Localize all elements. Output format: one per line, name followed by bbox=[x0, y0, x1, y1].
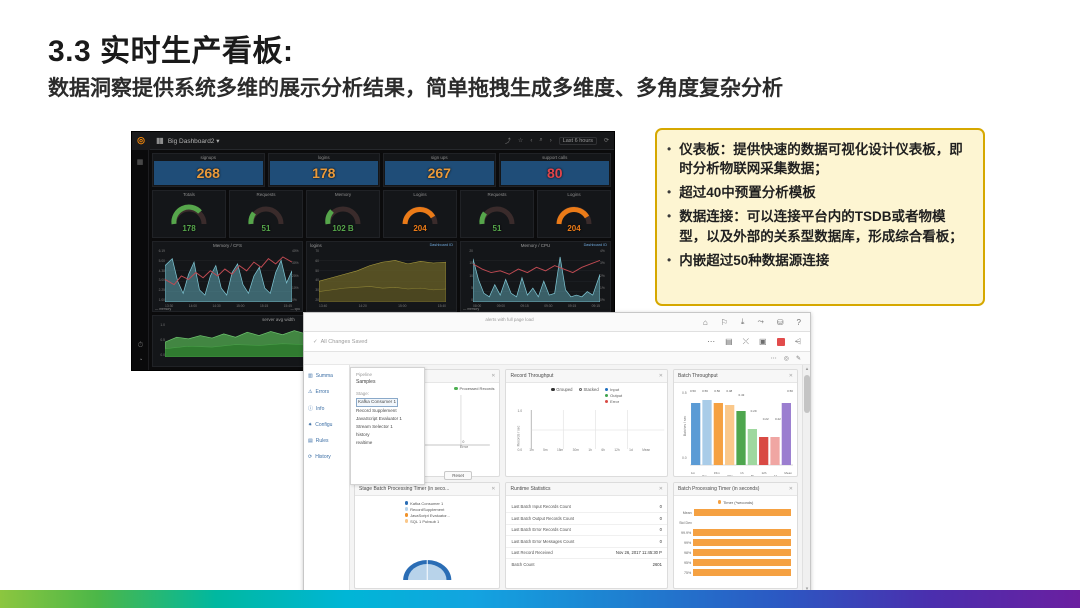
legend-item: Error bbox=[605, 399, 623, 404]
stat-row: Last Batch Error Messages Count 0 bbox=[506, 536, 667, 548]
sidebar-item-label: Errors bbox=[315, 389, 329, 395]
stat-value: 0 bbox=[660, 539, 662, 544]
radio-label: Grouped bbox=[556, 387, 572, 392]
x-tick: Mean bbox=[642, 448, 650, 452]
stop-icon[interactable] bbox=[777, 338, 785, 346]
panel-header: Record Throughput ✕ bbox=[506, 370, 667, 383]
streamsets-main: ▥ Summa ⚠ Errors ⓘ Info ✷ Configu ▤ Rule… bbox=[304, 365, 802, 593]
gauge-panel-title: Logins bbox=[384, 192, 456, 197]
y-axis-title: Batches / sec bbox=[683, 415, 687, 435]
stat-panel[interactable]: logins 178 bbox=[268, 153, 381, 187]
gauge-panel[interactable]: Totals 178 bbox=[152, 190, 226, 238]
stat-row: Last Record Received Nov 26, 2017 11:45:… bbox=[506, 548, 667, 560]
check-icon: ✓ bbox=[313, 339, 318, 345]
panel-header: Runtime Statistics ✕ bbox=[506, 483, 667, 496]
x-tick: 15:00 bbox=[236, 304, 244, 308]
graph-panel-legend-top: Dashboard ID bbox=[584, 243, 607, 247]
hbar-row: 75% bbox=[676, 568, 791, 578]
bar-value-label: 0.50 bbox=[690, 389, 696, 421]
y-axis-labels: 20 15 10 5 0 bbox=[462, 249, 473, 302]
x-tick: 15m bbox=[557, 448, 563, 452]
dropdown-item[interactable]: history bbox=[356, 431, 419, 439]
page-subtitle: 数据洞察提供系统多维的展示分析结果，简单拖拽生成多维度、多角度复杂分析 bbox=[48, 72, 783, 102]
panel-body: Last Batch Input Records Count 0 Last Ba… bbox=[506, 496, 667, 589]
y-tick: 0.0 bbox=[517, 448, 522, 452]
stat-panel-title: support calls bbox=[500, 155, 611, 160]
stat-value: 0 bbox=[660, 527, 662, 532]
hbar-row: 99.9% bbox=[676, 528, 791, 538]
stat-panel-title: sign ups bbox=[384, 155, 495, 160]
grafana-sidebar-bottom: ⏱ ◔ bbox=[132, 342, 149, 364]
graph-legend-right: — cpu bbox=[290, 307, 300, 311]
panel-stage-batch-timer[interactable]: Stage Batch Processing Timer (in seco...… bbox=[354, 482, 500, 590]
page-title: 3.3 实时生产看板: bbox=[48, 26, 294, 70]
gauge-panel-value: 204 bbox=[567, 224, 580, 233]
graph-plot-area bbox=[473, 250, 600, 302]
stat-label: Last Batch Error Messages Count bbox=[511, 539, 574, 544]
stat-row: Last Batch Output Records Count 0 bbox=[506, 513, 667, 525]
info-icon: ⓘ bbox=[308, 405, 313, 412]
list-item: • 超过40中预置分析模板 bbox=[667, 183, 971, 202]
donut-chart bbox=[355, 538, 499, 580]
stat-panel[interactable]: signups 268 bbox=[152, 153, 265, 187]
hbar-label: 95% bbox=[676, 561, 691, 565]
sidebar-item-history[interactable]: ⟳ History bbox=[304, 454, 349, 460]
batch-timer-bars: Mean Std Dev 99.9% bbox=[674, 508, 797, 578]
gauge-panel-title: Logins bbox=[538, 192, 610, 197]
panel-runtime-statistics[interactable]: Runtime Statistics ✕ Last Batch Input Re… bbox=[505, 482, 668, 590]
sidebar-item-label: History bbox=[315, 454, 331, 460]
legend-item: Kafka Consumer 1 bbox=[405, 501, 450, 506]
gauge-panel-title: Totals bbox=[153, 192, 225, 197]
x-tick: Error bbox=[460, 445, 468, 449]
legend-swatch bbox=[605, 400, 609, 404]
close-icon[interactable]: ✕ bbox=[789, 486, 793, 492]
x-tick: 15:00 bbox=[398, 304, 406, 308]
panel-legend: Input Output Error bbox=[605, 387, 623, 404]
stat-panel-value: 267 bbox=[428, 165, 451, 181]
panel-body: Grouped Stacked Input Output bbox=[506, 383, 667, 476]
stat-value: 2601 bbox=[653, 562, 662, 567]
hbar-fill bbox=[693, 539, 791, 546]
sidebar-item-label: Configu bbox=[315, 422, 332, 428]
dropdown-pipeline-label: Pipeline bbox=[356, 372, 419, 377]
graph-panel-title: Memory / CFS bbox=[153, 243, 302, 248]
grafana-topbar: ◎ ▮▮ Big Dashboard2 ▾ ⤴ ☆ ‹ ⌕ › Last 6 h… bbox=[132, 132, 614, 150]
stat-panel-value: 80 bbox=[547, 165, 563, 181]
bullet-icon: • bbox=[667, 183, 671, 202]
shuffle-icon[interactable]: ⤬ bbox=[743, 337, 749, 347]
stat-row: Batch Count 2601 bbox=[506, 559, 667, 571]
share-icon[interactable]: ⤴ bbox=[505, 136, 511, 145]
share-alt-icon[interactable]: ⤳ bbox=[757, 317, 763, 327]
hbar-row: Std Dev bbox=[676, 518, 791, 528]
reset-button[interactable]: Reset bbox=[444, 471, 472, 480]
x-tick: 12h bbox=[614, 448, 619, 452]
panel-title: Stage Batch Processing Timer (in seco... bbox=[359, 486, 449, 492]
notification-icon[interactable]: ⚐ bbox=[721, 318, 728, 327]
y-tick-right: 4% bbox=[600, 249, 605, 253]
sidebar-item-rules[interactable]: ▤ Rules bbox=[304, 438, 349, 444]
graph-panel-legend-top: Dashboard ID bbox=[430, 243, 453, 247]
hbar-label: 99% bbox=[676, 541, 691, 545]
dropdown-item[interactable]: Record Supplement bbox=[356, 407, 419, 415]
legend-item: Processed Records bbox=[454, 386, 494, 391]
gear-icon: ✷ bbox=[308, 422, 312, 428]
gauge-panel-value: 102 B bbox=[332, 224, 353, 233]
legend-swatch bbox=[405, 519, 409, 523]
grafana-logo-icon[interactable]: ◎ bbox=[132, 132, 150, 150]
save-status: ✓ All Changes Saved bbox=[313, 339, 367, 345]
y-tick: 1.0 bbox=[517, 409, 522, 413]
star-icon[interactable]: ☆ bbox=[518, 137, 523, 144]
grafana-graph-row: Memory / CFS 6.19 5.00 4.38 3.00 2.25 1.… bbox=[152, 241, 611, 312]
history-icon: ⟳ bbox=[308, 454, 312, 460]
legend-swatch bbox=[718, 500, 722, 504]
feature-text: 超过40中预置分析模板 bbox=[679, 183, 816, 202]
save-status-label: All Changes Saved bbox=[321, 339, 368, 345]
feature-text: 数据连接：可以连接平台内的TSDB或者物模型，以及外部的关系型数据库，形成综合看… bbox=[679, 207, 971, 245]
y-tick-right: 1% bbox=[600, 286, 605, 290]
legend-item: Input bbox=[605, 387, 623, 392]
share-icon[interactable]: ⩤ bbox=[795, 337, 801, 347]
settings-icon[interactable]: ◎ bbox=[784, 355, 789, 362]
panel-title: Batch Processing Timer (in seconds) bbox=[678, 486, 759, 492]
scrollbar-thumb[interactable] bbox=[804, 375, 810, 413]
feature-text: 内嵌超过50种数据源连接 bbox=[679, 251, 829, 270]
x-tick: 30m bbox=[727, 474, 733, 477]
hbar-fill bbox=[693, 529, 791, 536]
radio-grouped[interactable]: Grouped bbox=[551, 387, 572, 392]
warning-icon: ⚠ bbox=[308, 389, 312, 395]
zoom-icon[interactable]: ⌕ bbox=[539, 137, 542, 144]
help-icon[interactable]: ? bbox=[797, 318, 801, 327]
radio-dot bbox=[551, 388, 555, 392]
streamsets-panel-row-bottom: Stage Batch Processing Timer (in seco...… bbox=[354, 482, 798, 590]
legend-swatch bbox=[605, 388, 609, 392]
hbar-label: 98% bbox=[676, 551, 691, 555]
scroll-up-icon[interactable]: ▴ bbox=[803, 366, 811, 372]
x-tick: 15:15 bbox=[260, 304, 268, 308]
graph-panel-memory-cfs[interactable]: Memory / CFS 6.19 5.00 4.38 3.00 2.25 1.… bbox=[152, 241, 303, 312]
sidebar-item-label: Info bbox=[316, 406, 324, 412]
sidebar-item-info[interactable]: ⓘ Info bbox=[304, 405, 349, 412]
throughput-mode-radios: Grouped Stacked bbox=[551, 387, 598, 392]
y-tick-right: 0% bbox=[600, 298, 605, 302]
legend-item: Output bbox=[605, 393, 623, 398]
legend-label: Output bbox=[610, 393, 622, 398]
bullet-icon: • bbox=[667, 251, 671, 270]
close-icon[interactable]: ✕ bbox=[491, 486, 495, 492]
legend-item: RecordSupplement bbox=[405, 507, 450, 512]
hbar-row: 99% bbox=[676, 538, 791, 548]
x-tick: 15:40 bbox=[438, 304, 446, 308]
legend-label: Input bbox=[610, 387, 619, 392]
hbar-row: 98% bbox=[676, 548, 791, 558]
graph-legend-left: — memory bbox=[463, 307, 479, 311]
pipeline-stage-dropdown[interactable]: Pipeline Samples Stage: Kafka Consumer 1… bbox=[350, 367, 425, 485]
snapshot-icon[interactable]: ▣ bbox=[759, 337, 767, 346]
panel-body: Batches / sec 0.5 0.0 0.50 0.56 0.50 0.4… bbox=[674, 383, 797, 476]
x-tick: 09:30 bbox=[544, 304, 552, 308]
dropdown-item[interactable]: Stream Selector 1 bbox=[356, 423, 419, 431]
gauge-panel[interactable]: Logins 204 bbox=[537, 190, 611, 238]
x-tick: 14:20 bbox=[359, 304, 367, 308]
stat-panel-title: logins bbox=[269, 155, 380, 160]
gauge-panel-value: 51 bbox=[262, 224, 271, 233]
streamsets-toolbar-actions: ⋯ ▤ ⤬ ▣ ⩤ bbox=[707, 337, 801, 347]
sidebar-item-errors[interactable]: ⚠ Errors bbox=[304, 389, 349, 395]
panel-record-throughput[interactable]: Record Throughput ✕ Grouped Stacked bbox=[505, 369, 668, 477]
grafana-topbar-actions: ⤴ ☆ ‹ ⌕ › Last 6 hours ⟳ bbox=[505, 136, 609, 145]
hbar-label: Mean bbox=[676, 511, 692, 515]
y-axis-labels: 1.0 0.5 0.0 bbox=[154, 323, 165, 357]
bar-value-label: 0.29 bbox=[751, 409, 757, 421]
y-tick: 0.0 bbox=[682, 456, 687, 460]
legend-item: JavaScript Evaluator... bbox=[405, 513, 450, 518]
dropdown-item[interactable]: Kafka Consumer 1 bbox=[356, 398, 398, 407]
x-axis-labels: 08:00 09:00 09:15 09:30 09:15 09:15 bbox=[473, 304, 600, 308]
sidebar-item-summary[interactable]: ▥ Summa bbox=[304, 373, 349, 379]
bar-value-label: 0.43 bbox=[739, 393, 745, 421]
graph-panel-title: alerts with full page load bbox=[409, 317, 610, 322]
panel-legend: Processed Records bbox=[454, 386, 494, 391]
dropdown-pipeline-value[interactable]: Samples bbox=[356, 379, 419, 385]
x-tick: 13:40 bbox=[319, 304, 327, 308]
list-item: • 仪表板：提供快速的数据可视化设计仪表板，即时分析物联网采集数据； bbox=[667, 140, 971, 178]
stat-label: Last Batch Error Records Count bbox=[511, 527, 570, 532]
vertical-scrollbar[interactable]: ▴ ▾ bbox=[802, 365, 810, 593]
hbar-fill bbox=[693, 559, 791, 566]
graph-panel-title: server avg width bbox=[153, 317, 404, 322]
streamsets-monitoring-screenshot: ⌂ ⚐ ⤓ ⤳ ⛁ ? ✓ All Changes Saved ⋯ ▤ ⤬ ▣ … bbox=[303, 312, 811, 594]
y-tick-right: 0% bbox=[292, 298, 297, 302]
graph-plot-area bbox=[319, 250, 446, 302]
panel-title: Runtime Statistics bbox=[510, 486, 550, 492]
y-axis-right-labels: 40% 30% 20% 10% 0% bbox=[292, 249, 301, 302]
grafana-stat-row: signups 268 logins 178 sign ups 267 supp… bbox=[152, 153, 611, 187]
gauge-panel[interactable]: Memory 102 B bbox=[306, 190, 380, 238]
more-icon[interactable]: ⋯ bbox=[707, 337, 715, 346]
radio-stacked[interactable]: Stacked bbox=[579, 387, 599, 392]
x-tick: 09:15 bbox=[568, 304, 576, 308]
hbar-row: 95% bbox=[676, 558, 791, 568]
x-tick: 14:00 bbox=[189, 304, 197, 308]
close-icon[interactable]: ✕ bbox=[659, 373, 663, 379]
y-tick-right: 10% bbox=[292, 286, 299, 290]
legend-item: Timer (*seconds) bbox=[718, 500, 754, 505]
close-icon[interactable]: ✕ bbox=[491, 373, 495, 379]
dropdown-item[interactable]: realtime bbox=[356, 439, 419, 447]
hbar-row: Mean bbox=[676, 508, 791, 518]
y-tick-right: 30% bbox=[292, 261, 299, 265]
legend-label: RecordSupplement bbox=[410, 507, 444, 512]
chevron-left-icon[interactable]: ‹ bbox=[530, 138, 532, 144]
y-tick-right: 40% bbox=[292, 249, 299, 253]
legend-label: Processed Records bbox=[460, 386, 495, 391]
bar-value-label: 0.50 bbox=[787, 389, 793, 421]
x-tick: 15m bbox=[714, 471, 720, 477]
more-icon[interactable]: ⋯ bbox=[771, 355, 777, 362]
legend-label: Kafka Consumer 1 bbox=[410, 501, 443, 506]
hbar-fill bbox=[693, 549, 791, 556]
grafana-gauge-row: Totals 178 Requests 51 bbox=[152, 190, 611, 238]
refresh-icon[interactable]: ⟳ bbox=[604, 137, 609, 144]
panel-batch-throughput[interactable]: Batch Throughput ✕ Batches / sec 0.5 0.0… bbox=[673, 369, 798, 477]
close-icon[interactable]: ✕ bbox=[789, 373, 793, 379]
home-icon[interactable]: ⌂ bbox=[703, 318, 708, 327]
download-icon[interactable]: ⤓ bbox=[741, 317, 745, 327]
graph-panel-logins[interactable]: logins Dashboard ID 70 60 50 40 30 20 bbox=[306, 241, 457, 312]
person-icon[interactable]: ⛁ bbox=[777, 318, 784, 327]
stat-panel[interactable]: support calls 80 bbox=[499, 153, 612, 187]
gauge-panel[interactable]: Requests 51 bbox=[229, 190, 303, 238]
legend-swatch bbox=[405, 513, 409, 517]
radio-label: Stacked bbox=[584, 387, 599, 392]
alert-icon[interactable]: ⏱ bbox=[138, 342, 143, 350]
stat-panel-value: 178 bbox=[312, 165, 335, 181]
legend-swatch bbox=[454, 387, 458, 391]
gauge-panel-value: 178 bbox=[182, 224, 195, 233]
y-tick-right: 3% bbox=[600, 261, 605, 265]
sidebar-item-label: Rules bbox=[316, 438, 329, 444]
graph-legend-left: — memory bbox=[155, 307, 171, 311]
grafana-sidebar: ▦ ⏱ ◔ bbox=[132, 150, 149, 370]
x-tick: 14:30 bbox=[212, 304, 220, 308]
panel-header: Batch Processing Timer (in seconds) ✕ bbox=[674, 483, 797, 496]
legend-swatch bbox=[405, 507, 409, 511]
x-axis-labels: 13:40 14:20 15:00 15:40 bbox=[319, 304, 446, 308]
streamsets-topbar: ⌂ ⚐ ⤓ ⤳ ⛁ ? bbox=[304, 313, 810, 332]
gauge-panel-value: 51 bbox=[493, 224, 502, 233]
stat-panel-value: 268 bbox=[197, 165, 220, 181]
panel-batch-processing-timer[interactable]: Batch Processing Timer (in seconds) ✕ Ti… bbox=[673, 482, 798, 590]
hbar-label: 99.9% bbox=[676, 531, 691, 535]
panel-legend: Kafka Consumer 1 RecordSupplement JavaSc… bbox=[405, 501, 450, 524]
legend-item: SQL 1 Pubsub 1 bbox=[405, 519, 450, 524]
grafana-dashboard-title[interactable]: Big Dashboard2 ▾ bbox=[168, 137, 220, 145]
list-item: • 内嵌超过50种数据源连接 bbox=[667, 251, 971, 270]
x-tick: 5m bbox=[543, 448, 547, 452]
hbar-fill bbox=[693, 569, 791, 576]
chevron-right-icon[interactable]: › bbox=[550, 138, 552, 144]
gauge-panel[interactable]: Logins 204 bbox=[383, 190, 457, 238]
x-tick: 09:15 bbox=[592, 304, 600, 308]
bar-value: 0 bbox=[462, 440, 464, 444]
panel-body: Timer (*seconds) Mean Std Dev bbox=[674, 496, 797, 589]
bottom-accent-strip bbox=[0, 590, 1080, 608]
edit-icon[interactable]: ✎ bbox=[796, 355, 801, 362]
dashboard-icon: ▮▮ bbox=[156, 136, 163, 145]
panel-body: Kafka Consumer 1 RecordSupplement JavaSc… bbox=[355, 496, 499, 589]
stat-label: Last Batch Output Records Count bbox=[511, 516, 574, 521]
x-tick: 1h bbox=[740, 471, 743, 477]
bar-value-label: 0.50 bbox=[714, 389, 720, 421]
y-tick-right: 20% bbox=[292, 274, 299, 278]
graph-plot-area bbox=[165, 250, 292, 302]
streamsets-sidebar: ▥ Summa ⚠ Errors ⓘ Info ✷ Configu ▤ Rule… bbox=[304, 365, 350, 593]
x-tick: 6h bbox=[601, 448, 605, 452]
x-tick: 30m bbox=[573, 448, 579, 452]
gauge-panel-title: Requests bbox=[461, 192, 533, 197]
x-tick: 09:15 bbox=[520, 304, 528, 308]
stat-row: Last Batch Input Records Count 0 bbox=[506, 502, 667, 514]
y-axis-labels: 70 60 50 40 30 20 bbox=[308, 249, 319, 302]
sidebar-item-configuration[interactable]: ✷ Configu bbox=[304, 422, 349, 428]
list-item: • 数据连接：可以连接平台内的TSDB或者物模型，以及外部的关系型数据库，形成综… bbox=[667, 207, 971, 245]
stat-value: 0 bbox=[660, 504, 662, 509]
feature-callout-box: • 仪表板：提供快速的数据可视化设计仪表板，即时分析物联网采集数据； • 超过4… bbox=[655, 128, 985, 306]
gauge-panel-value: 204 bbox=[413, 224, 426, 233]
streamsets-toolbar: ✓ All Changes Saved ⋯ ▤ ⤬ ▣ ⩤ bbox=[304, 332, 810, 352]
x-tick: 6h bbox=[751, 474, 754, 477]
legend-label: SQL 1 Pubsub 1 bbox=[410, 519, 439, 524]
rules-icon: ▤ bbox=[308, 438, 313, 444]
graph-panel-memory-cpu[interactable]: Memory / CPU Dashboard ID 20 15 10 5 0 4… bbox=[460, 241, 611, 312]
x-tick: 12h bbox=[761, 471, 766, 477]
y-tick: 0.5 bbox=[682, 391, 687, 395]
x-tick: 1d bbox=[774, 474, 777, 477]
bullet-icon: • bbox=[667, 207, 671, 245]
bar-value-label: 0.56 bbox=[702, 389, 708, 421]
chart-icon: ▥ bbox=[308, 373, 313, 379]
stat-row: Last Batch Error Records Count 0 bbox=[506, 525, 667, 537]
time-range-picker[interactable]: Last 6 hours bbox=[559, 137, 597, 145]
legend-label: JavaScript Evaluator... bbox=[410, 513, 450, 518]
bar-value-label: 0.22 bbox=[763, 417, 769, 421]
panel-title: Record Throughput bbox=[510, 373, 553, 379]
radio-dot bbox=[579, 388, 583, 392]
stat-value: 0 bbox=[660, 516, 662, 521]
x-tick: 1m bbox=[529, 448, 533, 452]
legend-label: Timer (*seconds) bbox=[723, 500, 753, 505]
y-axis-right-labels: 4% 3% 2% 1% 0% bbox=[600, 249, 609, 302]
y-axis-title: Records / sec bbox=[517, 426, 521, 447]
legend-swatch bbox=[605, 394, 609, 398]
preview-icon[interactable]: ▤ bbox=[725, 337, 733, 346]
stat-panel-title: signups bbox=[153, 155, 264, 160]
stat-value: Nov 26, 2017 11:45:30 P bbox=[616, 550, 662, 555]
sidebar-item-label: Summa bbox=[316, 373, 333, 379]
x-tick: 1d bbox=[629, 448, 633, 452]
panel-title: Batch Throughput bbox=[678, 373, 718, 379]
x-tick: 09:00 bbox=[497, 304, 505, 308]
help-icon[interactable]: ◔ bbox=[138, 357, 142, 364]
dropdown-item[interactable]: JavaScript Evaluator 1 bbox=[356, 415, 419, 423]
close-icon[interactable]: ✕ bbox=[659, 486, 663, 492]
gauge-panel-title: Memory bbox=[307, 192, 379, 197]
stat-label: Batch Count bbox=[511, 562, 534, 567]
x-tick: Mean bbox=[784, 471, 792, 477]
legend-swatch bbox=[405, 501, 409, 505]
sidebar-item-dashboards[interactable]: ▦ bbox=[137, 158, 144, 166]
feature-list: • 仪表板：提供快速的数据可视化设计仪表板，即时分析物联网采集数据； • 超过4… bbox=[667, 140, 971, 270]
dropdown-stage-label: Stage: bbox=[356, 391, 419, 396]
stat-label: Last Batch Input Records Count bbox=[511, 504, 570, 509]
feature-text: 仪表板：提供快速的数据可视化设计仪表板，即时分析物联网采集数据； bbox=[679, 140, 971, 178]
x-tick: 1m bbox=[691, 471, 695, 477]
y-tick-right: 2% bbox=[600, 274, 605, 278]
hbar-label: 75% bbox=[676, 571, 691, 575]
gauge-panel[interactable]: Requests 51 bbox=[460, 190, 534, 238]
y-axis-labels: 6.19 5.00 4.38 3.00 2.25 1.00 bbox=[154, 249, 165, 302]
x-tick: 1h bbox=[588, 448, 592, 452]
legend-label: Error bbox=[610, 399, 619, 404]
streamsets-subbar: ⋯ ◎ ✎ bbox=[304, 352, 810, 365]
x-axis-labels: 13:30 14:00 14:30 15:00 15:15 15:45 bbox=[165, 304, 292, 308]
stat-panel[interactable]: sign ups 267 bbox=[383, 153, 496, 187]
bullet-icon: • bbox=[667, 140, 671, 178]
